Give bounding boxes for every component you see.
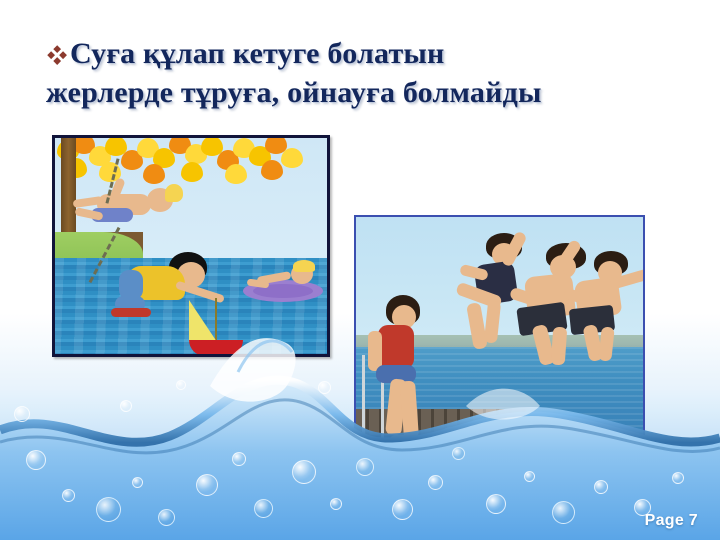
water-bubble [672,472,684,484]
title-block: Суға құлап кетуге болатын жерлерде тұруғ… [46,34,686,112]
water-bubble [26,450,46,470]
cartoon-kids-near-water[interactable] [52,135,330,357]
water-bubble [14,406,30,422]
water-bubble [428,475,443,490]
water-bubble [330,498,342,510]
cartoon-toy-sailboat [189,298,247,356]
title-line-1: Суға құлап кетуге болатын [46,34,686,73]
water-bubble [62,489,75,502]
title-line-2: жерлерде тұруға, ойнауға болмайды [46,73,686,112]
slide-canvas: Суға құлап кетуге болатын жерлерде тұруғ… [0,0,720,540]
water-bubble [120,400,132,412]
water-bubble [392,499,413,520]
water-bubble [594,480,608,494]
photo-kids-jumping-off-pier[interactable] [354,215,645,465]
water-bubble [552,501,575,524]
water-bubble [132,477,143,488]
water-bubble [96,497,121,522]
water-bubble [318,381,331,394]
water-bubble [486,494,506,514]
page-number: Page 7 [645,512,698,530]
water-bubble [232,452,246,466]
photo-pontoon-float-2 [464,429,496,461]
title-text-line-1: Суға құлап кетуге болатын [70,37,445,70]
water-bubble [254,499,273,518]
cartoon-child-on-float [243,260,323,304]
four-diamond-bullet-icon [46,37,68,59]
water-bubble [158,509,175,526]
cartoon-swinging-boy [73,180,183,232]
photo-jumper-boy-right [564,251,645,363]
water-bubble [196,474,218,496]
water-bubble [292,460,316,484]
water-bubble [524,471,535,482]
photo-seated-girl [364,295,440,463]
water-bubble [176,380,186,390]
